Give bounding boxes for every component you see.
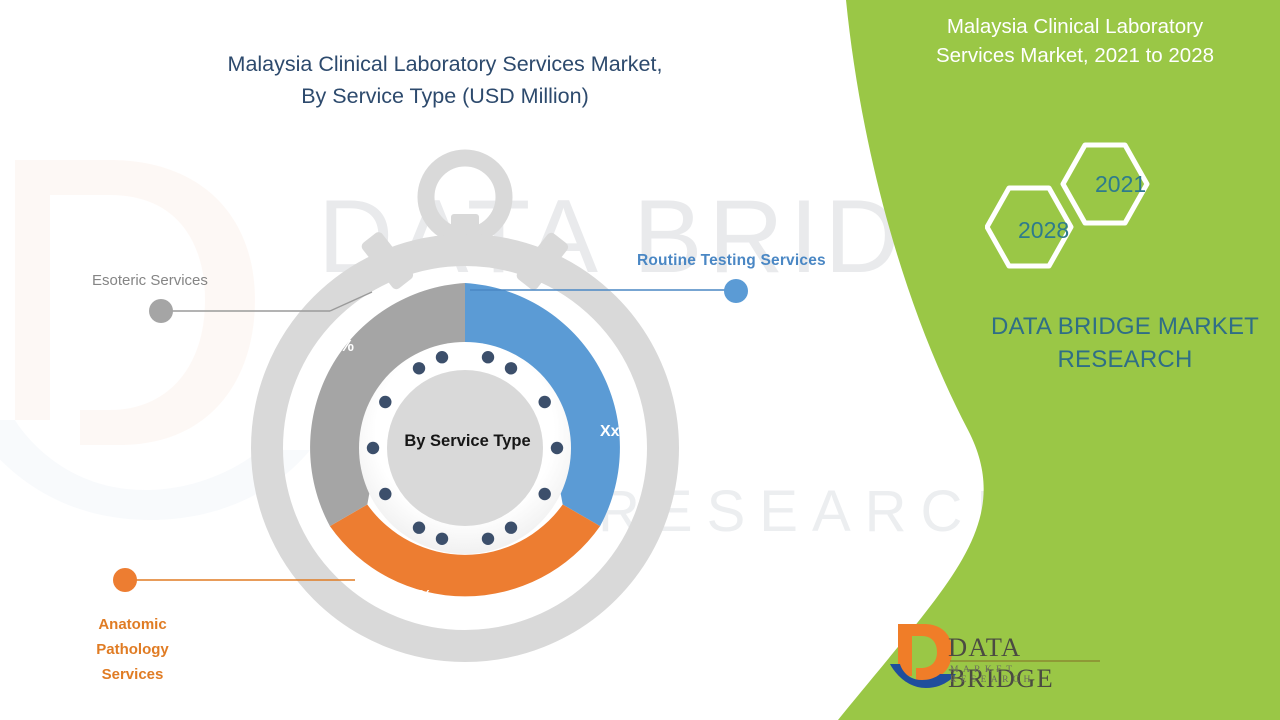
hex-2028-label: 2028 — [1018, 217, 1069, 244]
company-logo: DATA BRIDGE MARKET RESEARCH — [888, 618, 1106, 700]
anatomic-label-line-2: Pathology — [75, 637, 190, 662]
brand-name-line-1: DATA BRIDGE MARKET — [965, 310, 1280, 343]
brand-name: DATA BRIDGE MARKET RESEARCH — [965, 310, 1280, 376]
chart-title-line-1: Malaysia Clinical Laboratory Services Ma… — [175, 48, 715, 80]
donut-chart — [225, 140, 725, 700]
hexagon-group: 2021 2028 — [985, 140, 1185, 270]
panel-title-line-2: Services Market, 2021 to 2028 — [880, 41, 1270, 70]
esoteric-services-percent: xx% — [322, 338, 354, 356]
esoteric-services-label: Esoteric Services — [92, 272, 208, 289]
hexagon-shapes-icon — [985, 140, 1185, 270]
panel-title: Malaysia Clinical Laboratory Services Ma… — [880, 12, 1270, 70]
routine-testing-services-label: Routine Testing Services — [637, 252, 826, 270]
hex-2021-label: 2021 — [1095, 171, 1146, 198]
brand-name-line-2: RESEARCH — [965, 343, 1280, 376]
infographic-canvas: DATA BRIDGE RESEARCH Malaysia Clinical L… — [0, 0, 1280, 720]
routine-testing-services-percent: Xx% — [600, 423, 634, 441]
logo-divider — [950, 660, 1100, 662]
anatomic-pathology-services-label: Anatomic Pathology Services — [75, 612, 190, 687]
logo-tagline: MARKET RESEARCH — [950, 665, 1106, 685]
panel-title-line-1: Malaysia Clinical Laboratory — [880, 12, 1270, 41]
anatomic-label-line-3: Services — [75, 662, 190, 687]
donut-center-label: By Service Type — [370, 432, 565, 451]
anatomic-pathology-services-percent: xx% — [400, 588, 432, 606]
anatomic-label-line-1: Anatomic — [75, 612, 190, 637]
chart-title-line-2: By Service Type (USD Million) — [175, 80, 715, 112]
page-title: Malaysia Clinical Laboratory Services Ma… — [175, 48, 715, 112]
